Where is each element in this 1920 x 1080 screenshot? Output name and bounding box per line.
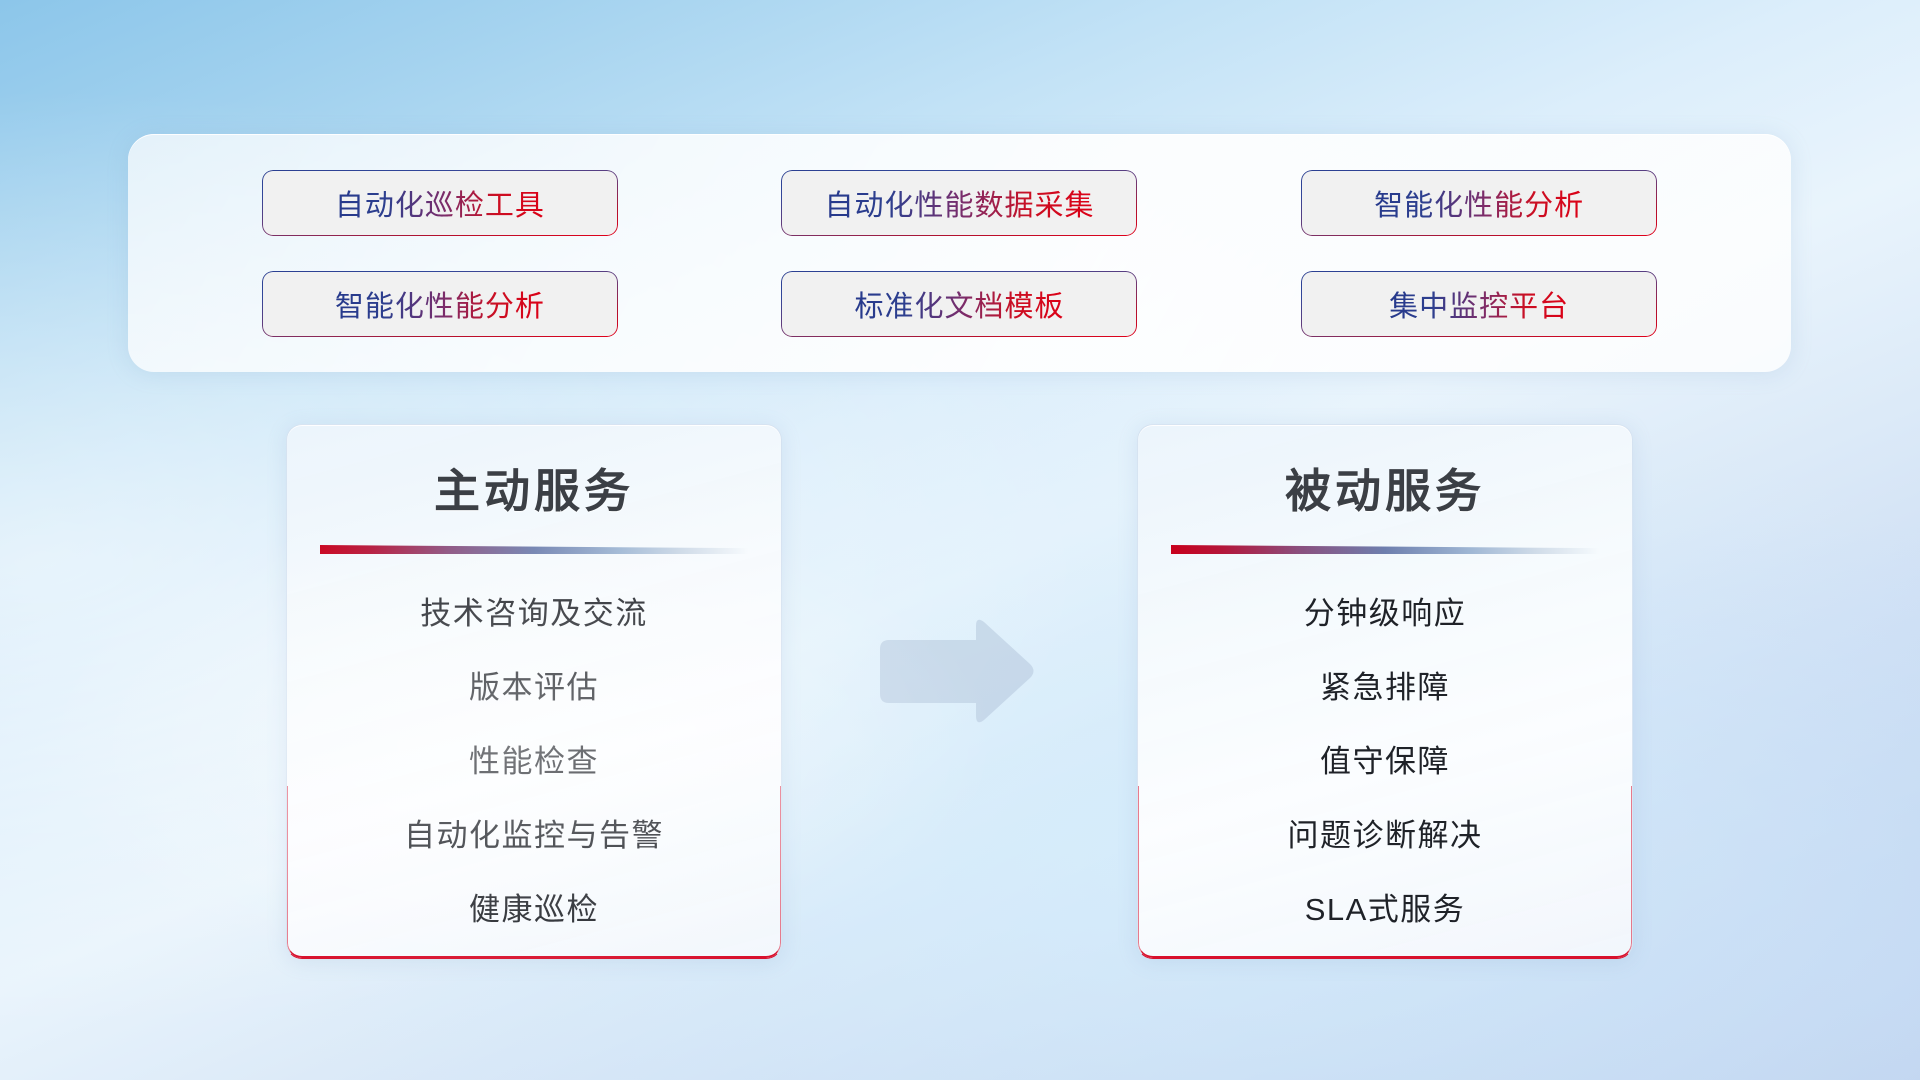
arrow-right-icon	[872, 615, 1037, 728]
capability-pill-6-inner: 集中监控平台	[1302, 272, 1656, 336]
list-item: 健康巡检	[311, 884, 757, 929]
capability-pill-6-label: 集中监控平台	[1389, 283, 1569, 325]
capability-pill-1-label: 自动化巡检工具	[335, 182, 545, 224]
capability-pill-5-inner: 标准化文档模板	[782, 272, 1136, 336]
capability-pill-1-inner: 自动化巡检工具	[263, 171, 617, 235]
title-divider-rule	[1171, 545, 1599, 554]
service-card-reactive: 被动服务 分钟级响应 紧急排障 值守保障 问题诊断解决 SLA式服务	[1137, 424, 1633, 959]
capability-pill-2-inner: 自动化性能数据采集	[782, 171, 1136, 235]
capability-pill-5-label: 标准化文档模板	[854, 283, 1064, 325]
capability-pill-2[interactable]: 自动化性能数据采集	[781, 170, 1137, 236]
service-card-proactive-title: 主动服务	[287, 455, 781, 521]
service-card-proactive-list: 技术咨询及交流 版本评估 性能检查 自动化监控与告警 健康巡检	[287, 588, 781, 929]
list-item: 紧急排障	[1162, 662, 1608, 707]
service-card-reactive-title: 被动服务	[1138, 455, 1632, 521]
list-item: 自动化监控与告警	[311, 810, 757, 855]
list-item: 性能检查	[311, 736, 757, 781]
capabilities-panel: 自动化巡检工具 自动化性能数据采集 智能化性能分析 智能化性能分析 标准化文档模…	[128, 134, 1791, 372]
list-item: 问题诊断解决	[1162, 810, 1608, 855]
capability-pill-3[interactable]: 智能化性能分析	[1301, 170, 1657, 236]
list-item: 版本评估	[311, 662, 757, 707]
capability-pill-3-label: 智能化性能分析	[1374, 182, 1584, 224]
capability-pill-3-inner: 智能化性能分析	[1302, 171, 1656, 235]
capability-pill-1[interactable]: 自动化巡检工具	[262, 170, 618, 236]
capability-pill-2-label: 自动化性能数据采集	[824, 182, 1094, 224]
title-divider-rule	[320, 545, 748, 554]
list-item: 分钟级响应	[1162, 588, 1608, 633]
capability-pill-5[interactable]: 标准化文档模板	[781, 271, 1137, 337]
capability-pill-4[interactable]: 智能化性能分析	[262, 271, 618, 337]
list-item: SLA式服务	[1162, 884, 1608, 929]
service-card-reactive-list: 分钟级响应 紧急排障 值守保障 问题诊断解决 SLA式服务	[1138, 588, 1632, 929]
capability-pill-6[interactable]: 集中监控平台	[1301, 271, 1657, 337]
list-item: 值守保障	[1162, 736, 1608, 781]
service-card-proactive: 主动服务 技术咨询及交流 版本评估 性能检查 自动化监控与告警 健康巡检	[286, 424, 782, 959]
list-item: 技术咨询及交流	[311, 588, 757, 633]
capability-pill-4-label: 智能化性能分析	[335, 283, 545, 325]
slide-canvas: 自动化巡检工具 自动化性能数据采集 智能化性能分析 智能化性能分析 标准化文档模…	[0, 0, 1920, 1080]
capability-pill-4-inner: 智能化性能分析	[263, 272, 617, 336]
